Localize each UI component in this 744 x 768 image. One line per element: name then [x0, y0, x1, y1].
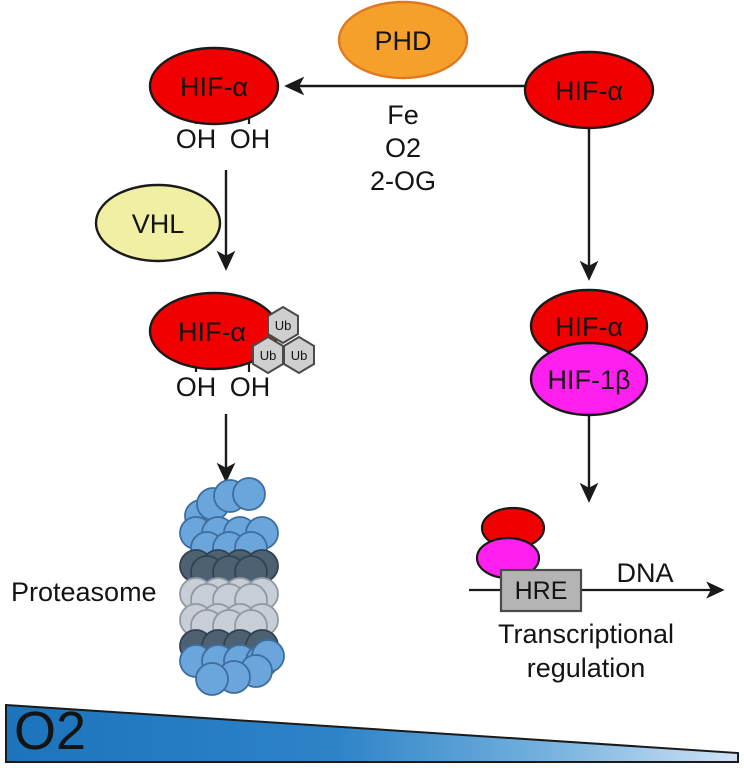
hydroxyl-ub-left-label: OH [176, 373, 217, 401]
hif-alpha-dimer-label: HIF-α [555, 313, 623, 341]
hif-alpha-hydroxylated-label: HIF-α [180, 73, 248, 101]
hif-1beta-label: HIF-1β [547, 366, 630, 394]
cofactor-2og-label: 2-OG [370, 167, 436, 195]
hydroxyl-ub-right-label: OH [230, 373, 271, 401]
dna-label: DNA [616, 559, 673, 587]
hif-alpha-free-label: HIF-α [555, 77, 623, 105]
diagram-canvas: HIF-α PHD HIF-α OH OH Fe O2 2-OG VHL HIF… [0, 0, 744, 768]
transcription-line2-label: regulation [527, 654, 646, 682]
cofactor-o2-label: O2 [385, 134, 421, 162]
hif-alpha-ubiquitinated-label: HIF-α [178, 318, 246, 346]
proteasome-label: Proteasome [11, 578, 157, 606]
ubiquitin-top-label: Ub [275, 319, 292, 333]
transcription-line1-label: Transcriptional [498, 620, 674, 648]
ubiquitin-bottom-left-label: Ub [260, 349, 277, 363]
phd-label: PHD [374, 27, 431, 55]
hydroxyl-left-label: OH [176, 125, 217, 153]
vhl-label: VHL [132, 210, 185, 238]
cofactor-fe-label: Fe [387, 101, 419, 129]
proteasome-structure[interactable] [180, 478, 284, 695]
proteasome-cap-bottom [180, 640, 284, 695]
oxygen-gradient-wedge [6, 705, 738, 762]
ubiquitin-bottom-right-label: Ub [291, 349, 308, 363]
hydroxyl-right-label: OH [230, 125, 271, 153]
oxygen-gradient-label: O2 [14, 703, 86, 760]
hre-label: HRE [515, 578, 568, 604]
